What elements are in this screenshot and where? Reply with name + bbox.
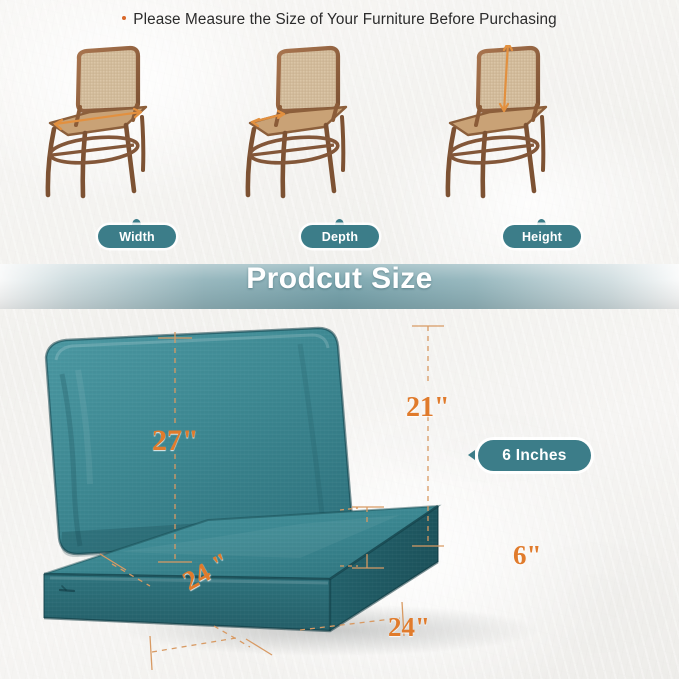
pill-height[interactable]: Height bbox=[503, 225, 581, 248]
measure-note-text: Please Measure the Size of Your Furnitur… bbox=[133, 11, 556, 28]
pill-width[interactable]: Width bbox=[98, 225, 176, 248]
infographic-page: Please Measure the Size of Your Furnitur… bbox=[0, 0, 679, 679]
chair-height-illustration bbox=[438, 45, 643, 245]
chair-depth-illustration bbox=[238, 45, 443, 245]
pill-depth[interactable]: Depth bbox=[301, 225, 379, 248]
measure-note: Please Measure the Size of Your Furnitur… bbox=[0, 11, 679, 29]
thickness-badge[interactable]: 6 Inches bbox=[478, 440, 591, 471]
dimension-label-width-24: 24" bbox=[388, 612, 430, 643]
dimension-label-thickness-6: 6" bbox=[513, 540, 542, 571]
chair-illustrations bbox=[0, 45, 679, 245]
dimension-label-height-27: 27" bbox=[152, 424, 199, 458]
bullet-dot-icon bbox=[122, 16, 126, 20]
product-photo bbox=[0, 314, 679, 679]
banner-title: Prodcut Size bbox=[0, 262, 679, 296]
chair-width-illustration bbox=[38, 45, 243, 245]
dimension-label-back-21: 21" bbox=[406, 392, 450, 424]
left-pointer-icon bbox=[468, 450, 475, 460]
